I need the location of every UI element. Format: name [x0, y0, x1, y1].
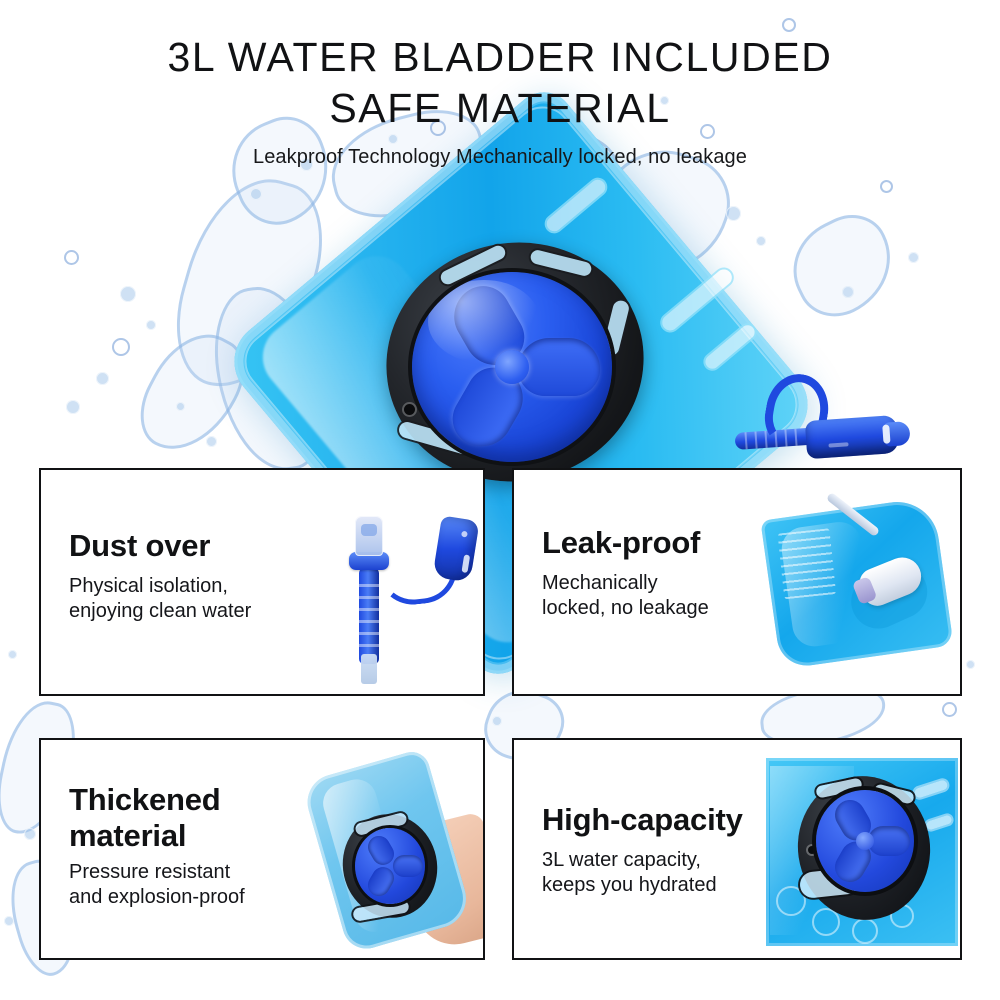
- desc-line-1: Physical isolation,: [69, 575, 228, 597]
- feature-card-title: Dust over: [69, 528, 324, 564]
- title-line-2: SAFE MATERIAL: [0, 85, 1000, 131]
- cap-assembly-closeup-photo: [766, 758, 958, 946]
- desc-line-2: locked, no leakage: [542, 597, 709, 619]
- feature-card-description: Physical isolation, enjoying clean water: [69, 574, 324, 624]
- feature-card-title: Leak-proof: [542, 525, 794, 561]
- desc-line-2: keeps you hydrated: [542, 874, 717, 896]
- desc-line-2: and explosion-proof: [69, 886, 245, 908]
- bite-valve: [805, 415, 899, 459]
- feature-card-title: High-capacity: [542, 802, 794, 838]
- title-line-2: material: [69, 818, 186, 853]
- page-title: 3L WATER BLADDER INCLUDED SAFE MATERIAL: [0, 34, 1000, 131]
- hand-holding-bladder-photo: [299, 756, 485, 946]
- feature-card-description: Pressure resistant and explosion-proof: [69, 860, 324, 910]
- desc-line-1: Mechanically: [542, 572, 658, 594]
- feature-card-title: Thickened material: [69, 782, 324, 854]
- desc-line-2: enjoying clean water: [69, 600, 251, 622]
- feature-card-text: Dust over Physical isolation, enjoying c…: [69, 528, 324, 624]
- title-line-1: Thickened: [69, 782, 221, 817]
- desc-line-1: Pressure resistant: [69, 861, 230, 883]
- infographic-canvas: the reservoir and prevent isolation and …: [0, 0, 1000, 1000]
- desc-line-1: 3L water capacity,: [542, 849, 701, 871]
- collar-vent-dot: [404, 404, 415, 415]
- feature-card-leak-proof: Leak-proof Mechanically locked, no leaka…: [512, 468, 962, 696]
- bladder-corner-plug-photo: [764, 496, 950, 676]
- feature-card-thickened-material: Thickened material Pressure resistant an…: [39, 738, 485, 960]
- feature-card-description: 3L water capacity, keeps you hydrated: [542, 848, 794, 898]
- feature-card-text: High-capacity 3L water capacity, keeps y…: [542, 802, 794, 898]
- feature-card-description: Mechanically locked, no leakage: [542, 571, 794, 621]
- feature-card-dust-over: Dust over Physical isolation, enjoying c…: [39, 468, 485, 696]
- feature-card-text: Leak-proof Mechanically locked, no leaka…: [542, 525, 794, 621]
- title-line-1: 3L WATER BLADDER INCLUDED: [0, 34, 1000, 80]
- header: 3L WATER BLADDER INCLUDED SAFE MATERIAL …: [0, 0, 1000, 169]
- feature-card-text: Thickened material Pressure resistant an…: [69, 782, 324, 910]
- screw-cap: [412, 272, 612, 462]
- feature-card-high-capacity: High-capacity 3L water capacity, keeps y…: [512, 738, 962, 960]
- bite-valve-dust-cover-photo: [321, 494, 485, 679]
- page-subtitle: Leakproof Technology Mechanically locked…: [0, 145, 1000, 169]
